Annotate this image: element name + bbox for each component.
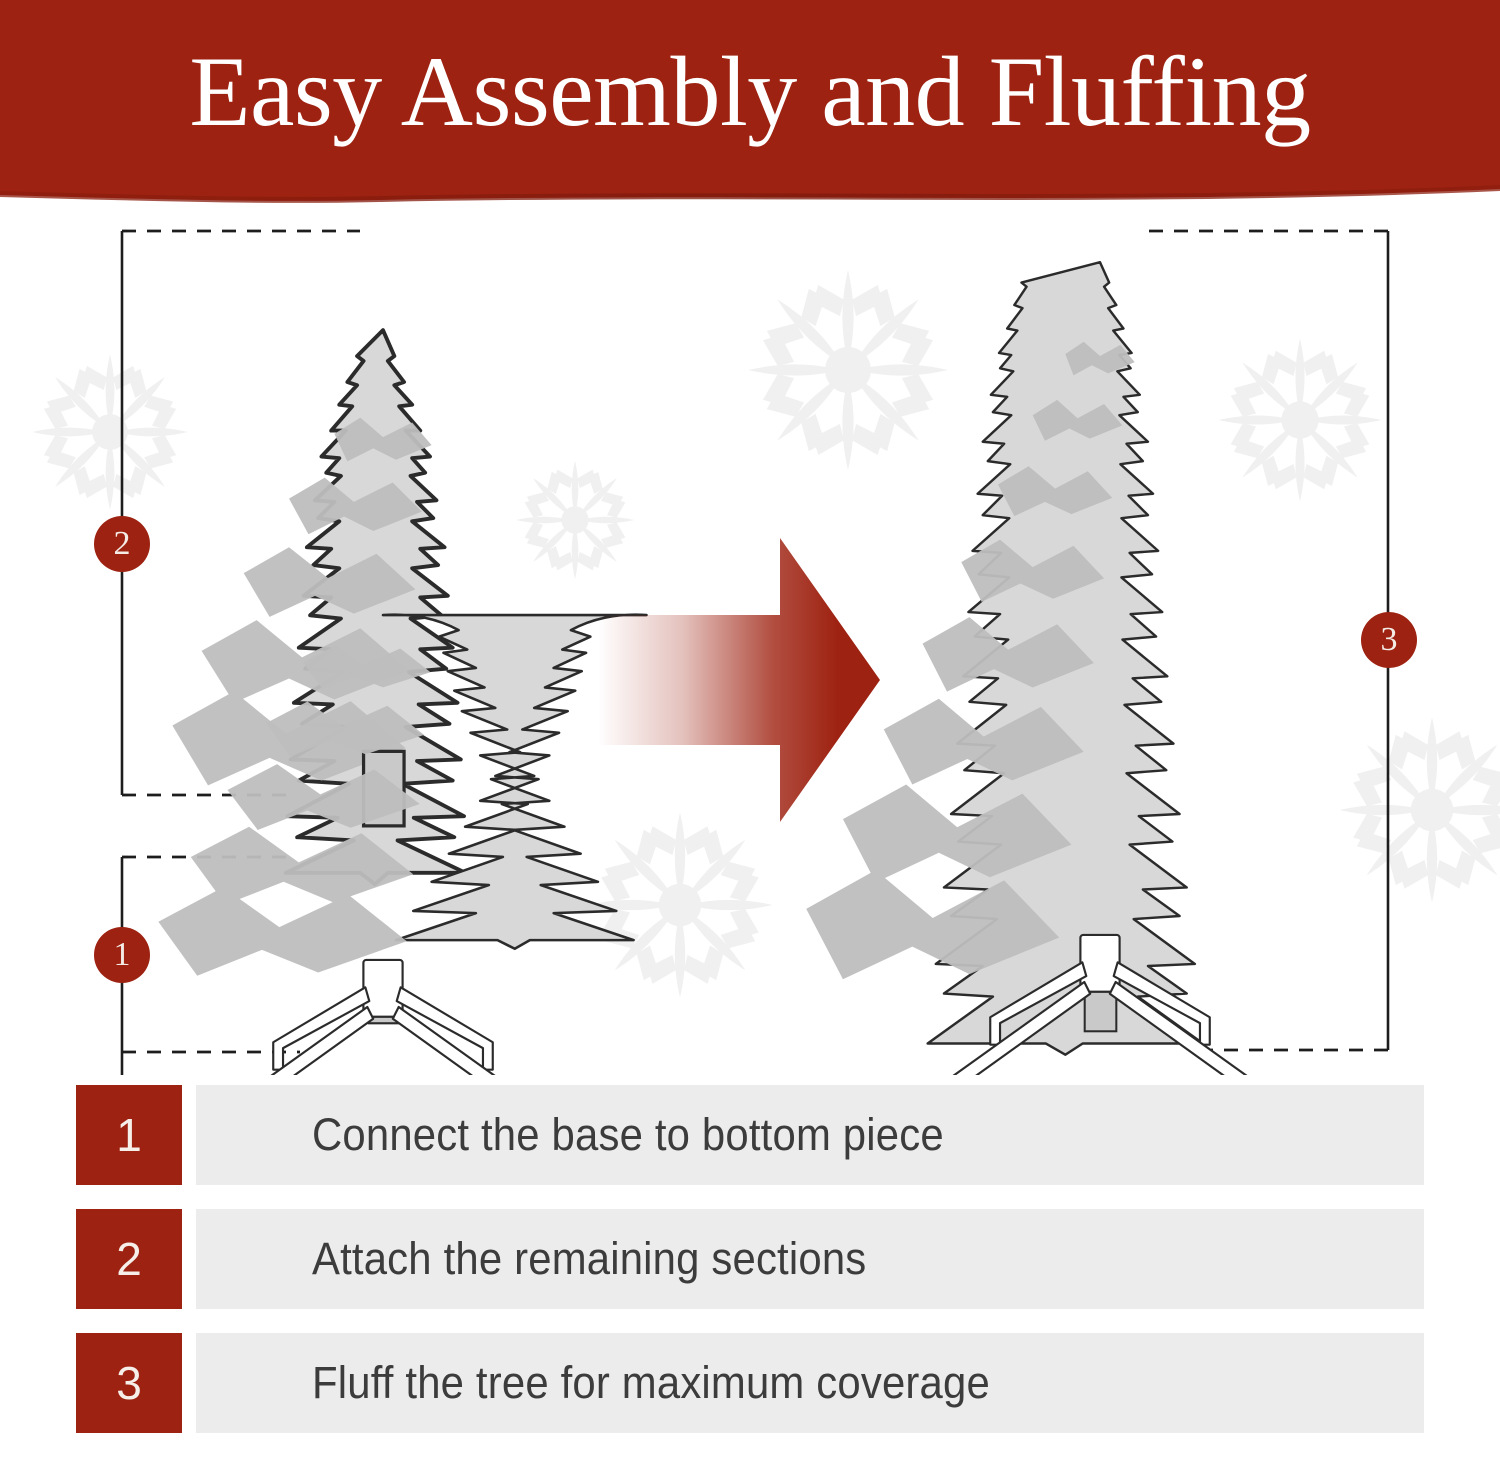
list-item: 1 Connect the base to bottom piece <box>76 1085 1500 1185</box>
snowflake-icon <box>516 461 634 579</box>
step-number-badge: 1 <box>76 1085 182 1185</box>
step-number-badge: 2 <box>76 1209 182 1309</box>
step-divider <box>182 1209 196 1309</box>
snowflake-icon <box>1219 339 1382 502</box>
bracket-badge-1: 1 <box>94 927 150 983</box>
infographic-page: Easy Assembly and Fluffing <box>0 0 1500 1470</box>
step-label: Attach the remaining sections <box>312 1233 866 1285</box>
page-title: Easy Assembly and Fluffing <box>0 34 1500 149</box>
step-text-container: Fluff the tree for maximum coverage <box>196 1333 1424 1433</box>
tree-stand-left <box>222 960 543 1075</box>
list-item: 3 Fluff the tree for maximum coverage <box>76 1333 1500 1433</box>
step-text-container: Attach the remaining sections <box>196 1209 1424 1309</box>
step-text-container: Connect the base to bottom piece <box>196 1085 1424 1185</box>
list-item: 2 Attach the remaining sections <box>76 1209 1500 1309</box>
snowflake-icon <box>1340 718 1500 903</box>
snowflake-icon <box>588 813 773 998</box>
transition-arrow <box>598 538 880 822</box>
step-list: 1 Connect the base to bottom piece 2 Att… <box>0 1085 1500 1457</box>
assembly-diagram <box>0 205 1500 1075</box>
bracket-badge-3: 3 <box>1361 612 1417 668</box>
step-label: Fluff the tree for maximum coverage <box>312 1357 990 1409</box>
header-banner: Easy Assembly and Fluffing <box>0 0 1500 205</box>
step-divider <box>182 1333 196 1433</box>
step-divider <box>182 1085 196 1185</box>
snowflake-icon <box>32 354 187 509</box>
step-label: Connect the base to bottom piece <box>312 1109 944 1161</box>
snowflake-icon <box>748 270 948 470</box>
step-number-badge: 3 <box>76 1333 182 1433</box>
bracket-badge-2: 2 <box>94 516 150 572</box>
